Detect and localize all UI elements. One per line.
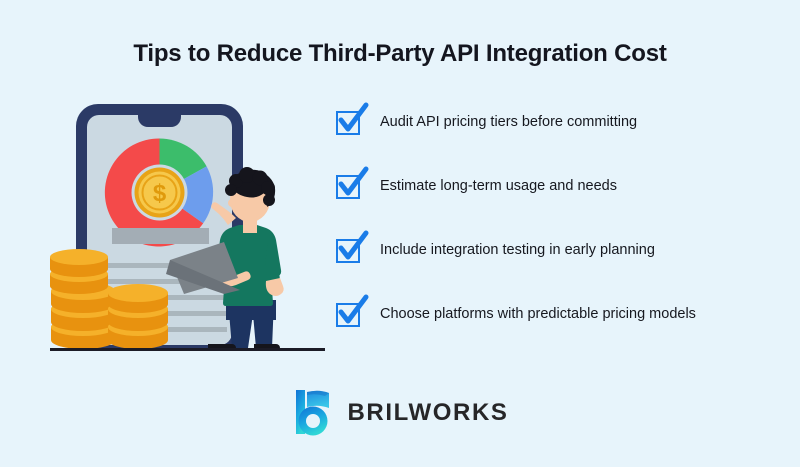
list-item-label: Include integration testing in early pla… (380, 242, 655, 259)
list-item[interactable]: Include integration testing in early pla… (336, 236, 776, 300)
checked-checkbox-icon[interactable] (336, 236, 366, 266)
list-item[interactable]: Estimate long-term usage and needs (336, 172, 776, 236)
ground-line (50, 348, 325, 351)
coin-stack-right (108, 284, 168, 349)
dollar-coin-icon: $ (135, 168, 185, 218)
infographic-canvas: Tips to Reduce Third-Party API Integrati… (0, 0, 800, 467)
api-cost-analysis-illustration: $ (50, 95, 325, 360)
list-item[interactable]: Choose platforms with predictable pricin… (336, 300, 776, 364)
checked-checkbox-icon[interactable] (336, 300, 366, 330)
checked-checkbox-icon[interactable] (336, 172, 366, 202)
list-item-label: Choose platforms with predictable pricin… (380, 306, 696, 323)
coin-stack-left (50, 249, 115, 349)
content-heading-bar (112, 228, 209, 244)
list-item[interactable]: Audit API pricing tiers before committin… (336, 108, 776, 172)
svg-text:$: $ (153, 180, 167, 207)
list-item-label: Estimate long-term usage and needs (380, 178, 617, 195)
brilworks-mark-icon (291, 388, 335, 436)
list-item-label: Audit API pricing tiers before committin… (380, 114, 637, 131)
tips-checklist: Audit API pricing tiers before committin… (336, 108, 776, 364)
page-title: Tips to Reduce Third-Party API Integrati… (0, 40, 800, 68)
brilworks-logo[interactable]: BRILWORKS (0, 388, 800, 436)
checked-checkbox-icon[interactable] (336, 108, 366, 138)
brilworks-wordmark: BRILWORKS (347, 399, 508, 425)
